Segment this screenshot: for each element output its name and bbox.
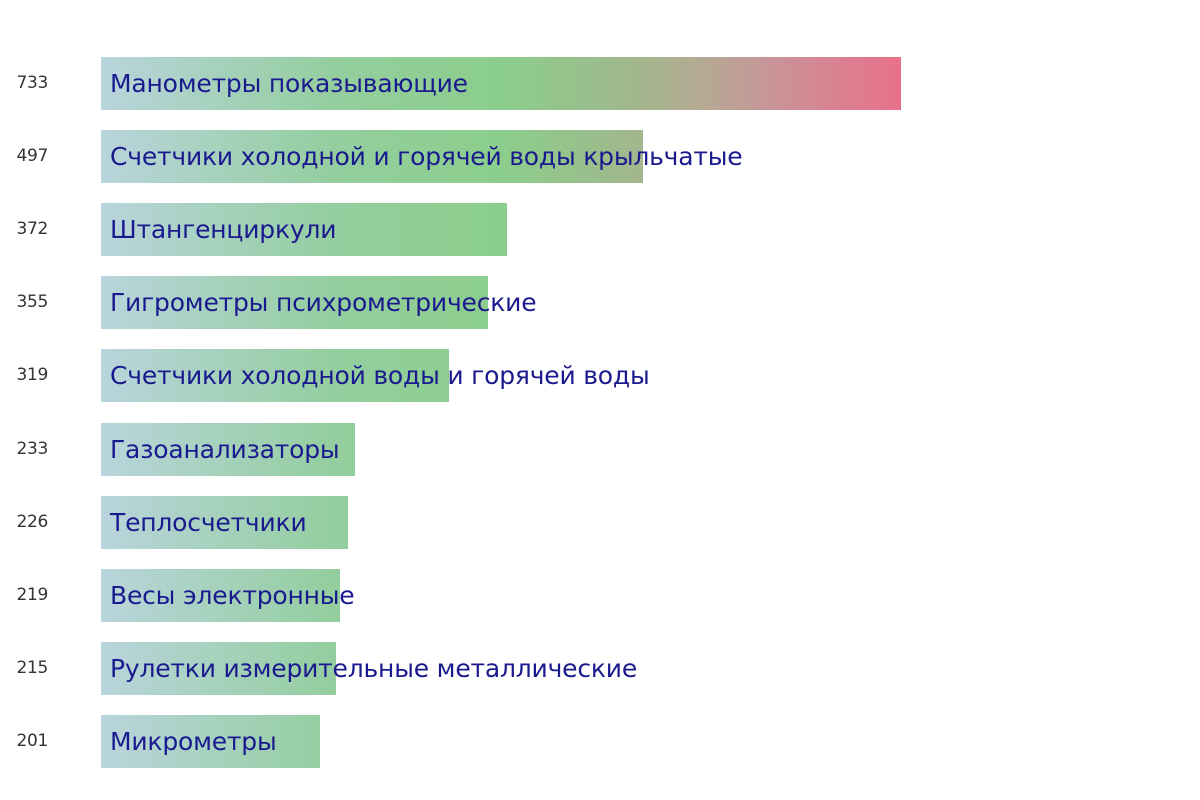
bar-category-label: Весы электронные xyxy=(110,569,354,622)
bar-value-label: 215 xyxy=(0,642,48,695)
bar-category-label: Микрометры xyxy=(110,715,277,768)
bar-row: 219Весы электронные xyxy=(0,569,1200,622)
bar-category-label: Счетчики холодной и горячей воды крыльча… xyxy=(110,130,742,183)
bar-value-label: 219 xyxy=(0,569,48,622)
bar-row: 733Манометры показывающие xyxy=(0,57,1200,110)
bar-value-label: 233 xyxy=(0,423,48,476)
bar-row: 355Гигрометры психрометрические xyxy=(0,276,1200,329)
bar-value-label: 355 xyxy=(0,276,48,329)
bar-row: 233Газоанализаторы xyxy=(0,423,1200,476)
bar-category-label: Штангенциркули xyxy=(110,203,336,256)
bar-row: 226Теплосчетчики xyxy=(0,496,1200,549)
bar-row: 201Микрометры xyxy=(0,715,1200,768)
bar-category-label: Рулетки измерительные металлические xyxy=(110,642,637,695)
bar-category-label: Счетчики холодной воды и горячей воды xyxy=(110,349,650,402)
bar-category-label: Гигрометры психрометрические xyxy=(110,276,536,329)
bar-row: 215Рулетки измерительные металлические xyxy=(0,642,1200,695)
bar-value-label: 733 xyxy=(0,57,48,110)
bar-category-label: Теплосчетчики xyxy=(110,496,307,549)
bar-category-label: Газоанализаторы xyxy=(110,423,339,476)
bar-value-label: 319 xyxy=(0,349,48,402)
bar-row: 319Счетчики холодной воды и горячей воды xyxy=(0,349,1200,402)
bar-value-label: 226 xyxy=(0,496,48,549)
horizontal-bar-chart: 733Манометры показывающие497Счетчики хол… xyxy=(0,0,1200,800)
bar-value-label: 497 xyxy=(0,130,48,183)
bar-row: 372Штангенциркули xyxy=(0,203,1200,256)
bar-value-label: 201 xyxy=(0,715,48,768)
bar-value-label: 372 xyxy=(0,203,48,256)
bar-category-label: Манометры показывающие xyxy=(110,57,468,110)
bar-row: 497Счетчики холодной и горячей воды крыл… xyxy=(0,130,1200,183)
